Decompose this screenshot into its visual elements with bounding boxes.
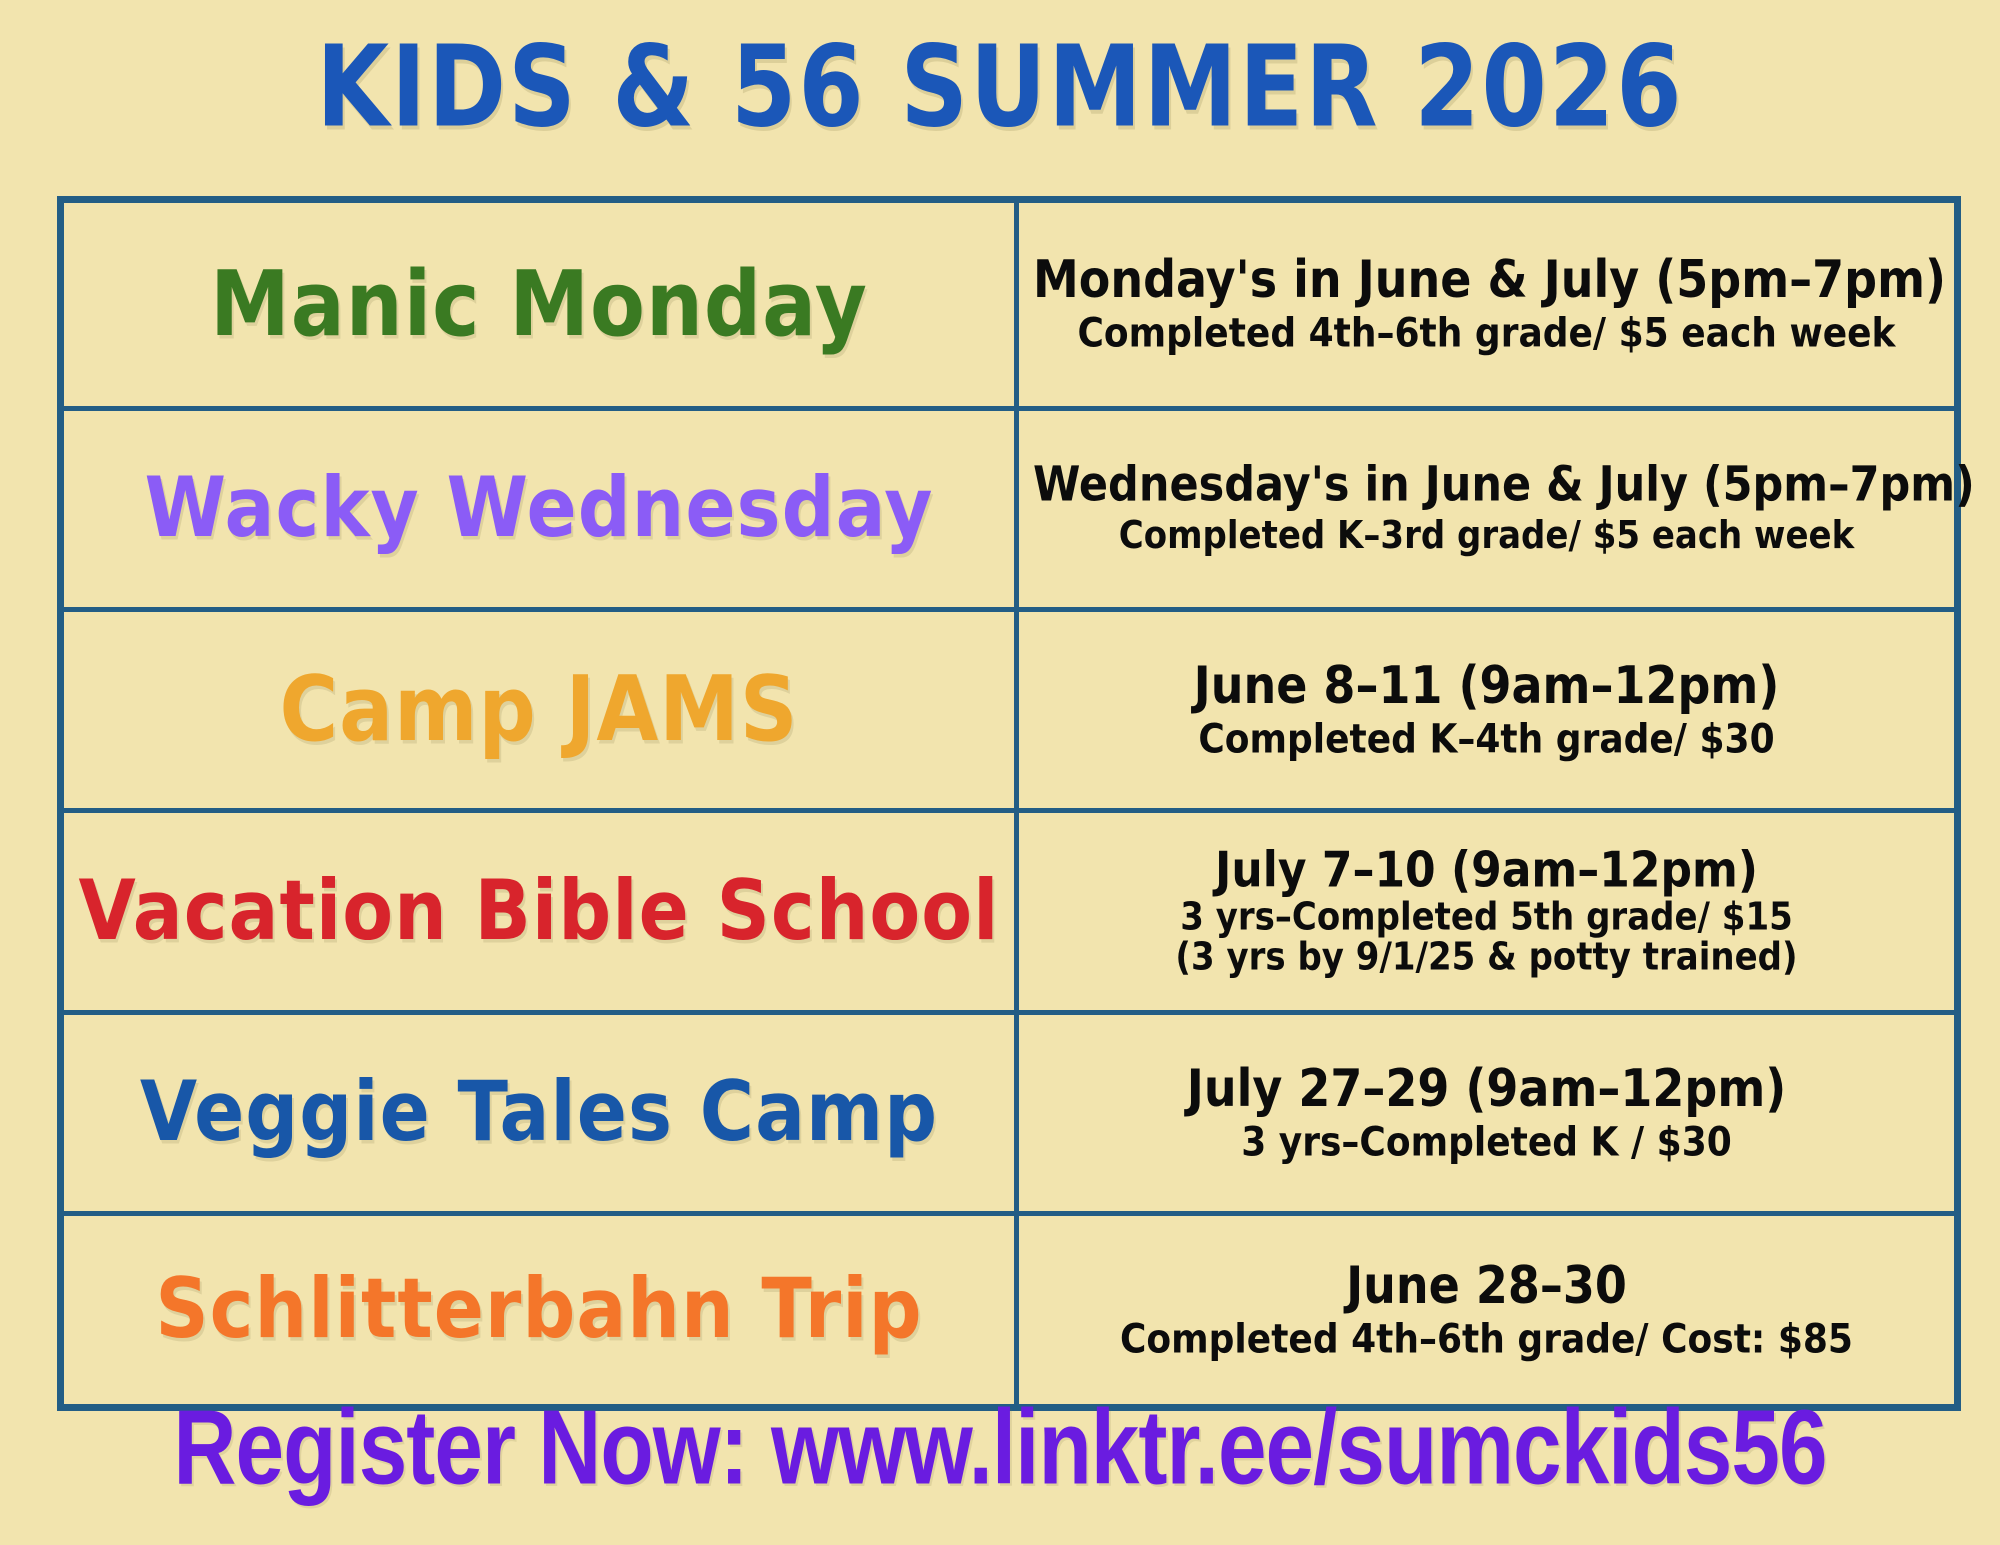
program-detail: July 7–10 (9am–12pm) 3 yrs–Completed 5th… xyxy=(1019,837,1954,985)
table-row: Manic Monday Monday's in June & July (5p… xyxy=(61,200,1958,409)
program-name-veggie-tales-camp: Veggie Tales Camp xyxy=(64,1069,1014,1156)
program-name-cell: Schlitterbahn Trip xyxy=(61,1214,1017,1408)
table-row: Veggie Tales Camp July 27–29 (9am–12pm) … xyxy=(61,1013,1958,1214)
program-name-wacky-wednesday: Wacky Wednesday xyxy=(64,465,1014,552)
program-schedule-line: July 27–29 (9am–12pm) xyxy=(1033,1055,1940,1122)
program-extra-line: (3 yrs by 9/1/25 & potty trained) xyxy=(1033,935,1940,980)
program-name-cell: Wacky Wednesday xyxy=(61,409,1017,610)
program-detail: Monday's in June & July (5pm–7pm) Comple… xyxy=(1019,242,1954,366)
program-schedule-line: Monday's in June & July (5pm–7pm) xyxy=(1033,247,1940,314)
program-name-schlitterbahn-trip: Schlitterbahn Trip xyxy=(64,1266,1014,1353)
program-name-vacation-bible-school: Vacation Bible School xyxy=(64,868,1014,955)
program-detail-cell: June 8–11 (9am–12pm) Completed K–4th gra… xyxy=(1017,610,1958,811)
registration-link[interactable]: Register Now: www.linktr.ee/sumckids56 xyxy=(30,1388,1970,1510)
program-detail: June 8–11 (9am–12pm) Completed K–4th gra… xyxy=(1019,648,1954,772)
program-detail-cell: June 28–30 Completed 4th–6th grade/ Cost… xyxy=(1017,1214,1958,1408)
program-detail: July 27–29 (9am–12pm) 3 yrs–Completed K … xyxy=(1019,1051,1954,1175)
program-name-cell: Camp JAMS xyxy=(61,610,1017,811)
program-detail: Wednesday's in June & July (5pm–7pm) Com… xyxy=(1019,450,1954,568)
program-schedule-line: Wednesday's in June & July (5pm–7pm) xyxy=(1033,455,1940,518)
program-detail-cell: July 27–29 (9am–12pm) 3 yrs–Completed K … xyxy=(1017,1013,1958,1214)
program-detail: June 28–30 Completed 4th–6th grade/ Cost… xyxy=(1019,1248,1954,1372)
program-schedule-line: June 28–30 xyxy=(1033,1252,1940,1319)
summer-program-poster: KIDS & 56 SUMMER 2026 Manic Monday Monda… xyxy=(0,0,2000,1545)
program-name-camp-jams: Camp JAMS xyxy=(64,663,1014,757)
table-row: Schlitterbahn Trip June 28–30 Completed … xyxy=(61,1214,1958,1408)
table-row: Vacation Bible School July 7–10 (9am–12p… xyxy=(61,811,1958,1013)
program-details-line: 3 yrs–Completed K / $30 xyxy=(1033,1116,1940,1170)
program-name-manic-monday: Manic Monday xyxy=(64,257,1014,351)
program-name-cell: Manic Monday xyxy=(61,200,1017,409)
table-row: Camp JAMS June 8–11 (9am–12pm) Completed… xyxy=(61,610,1958,811)
table-row: Wacky Wednesday Wednesday's in June & Ju… xyxy=(61,409,1958,610)
program-detail-cell: Wednesday's in June & July (5pm–7pm) Com… xyxy=(1017,409,1958,610)
program-schedule-table: Manic Monday Monday's in June & July (5p… xyxy=(57,196,1961,1411)
program-details-line: Completed 4th–6th grade/ Cost: $85 xyxy=(1033,1313,1940,1367)
program-name-cell: Vacation Bible School xyxy=(61,811,1017,1013)
program-details-line: Completed 4th–6th grade/ $5 each week xyxy=(1033,307,1940,361)
program-schedule-line: July 7–10 (9am–12pm) xyxy=(1033,842,1940,900)
page-title: KIDS & 56 SUMMER 2026 xyxy=(0,0,2000,144)
program-details-line: Completed K–3rd grade/ $5 each week xyxy=(1033,511,1940,562)
program-detail-cell: July 7–10 (9am–12pm) 3 yrs–Completed 5th… xyxy=(1017,811,1958,1013)
program-schedule-line: June 8–11 (9am–12pm) xyxy=(1033,652,1940,719)
program-detail-cell: Monday's in June & July (5pm–7pm) Comple… xyxy=(1017,200,1958,409)
program-name-cell: Veggie Tales Camp xyxy=(61,1013,1017,1214)
program-details-line: 3 yrs–Completed 5th grade/ $15 xyxy=(1033,895,1940,940)
program-details-line: Completed K–4th grade/ $30 xyxy=(1033,713,1940,767)
